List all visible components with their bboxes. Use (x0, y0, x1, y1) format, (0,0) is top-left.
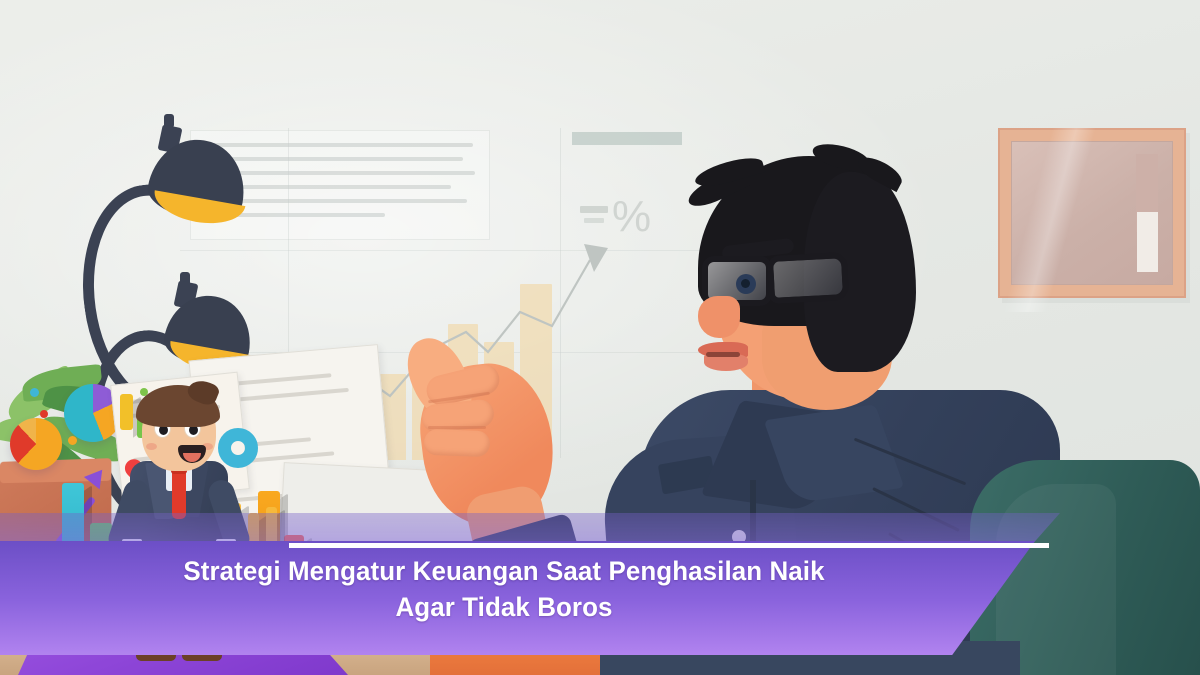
hero-illustration: % (0, 0, 1200, 675)
man-hand-gesture (408, 330, 588, 540)
glasses-lens-back (767, 252, 849, 304)
dot-blue (30, 388, 39, 397)
dot-orange (68, 436, 77, 445)
man-head (692, 156, 918, 406)
banner-translucent-strip (0, 513, 1060, 543)
hand-ring-finger (424, 429, 491, 457)
banner-divider-line (289, 543, 1049, 548)
man-eye (736, 274, 756, 294)
businessman-tie (172, 467, 186, 519)
businessman-mouth (178, 445, 206, 463)
dot-red (40, 410, 48, 418)
pie-chart-orange (10, 418, 62, 470)
man-nose (698, 296, 740, 338)
title-line-1: Strategi Mengatur Keuangan Saat Penghasi… (20, 554, 988, 590)
page-title: Strategi Mengatur Keuangan Saat Penghasi… (20, 554, 988, 626)
man-mouth (706, 352, 740, 357)
man-pupil (741, 279, 750, 288)
title-line-2: Agar Tidak Boros (20, 590, 988, 626)
frame-block-lower (1137, 212, 1158, 272)
